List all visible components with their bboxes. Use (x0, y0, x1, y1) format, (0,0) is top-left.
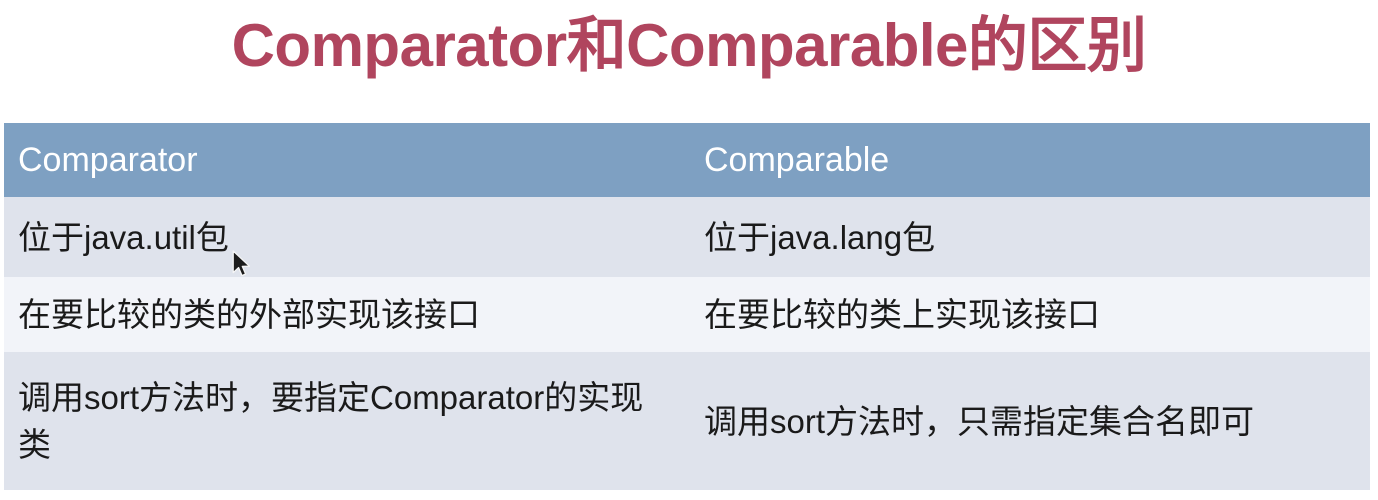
column-header-comparable: Comparable (690, 123, 1370, 197)
column-header-comparator: Comparator (4, 123, 690, 197)
cell-text: 位于java.util包 (18, 214, 676, 261)
slide-canvas: Comparator和Comparable的区别 Comparator Comp… (0, 0, 1378, 500)
cell-text: 在要比较的类的外部实现该接口 (18, 291, 676, 338)
cell-text: 调用sort方法时，要指定Comparator的实现类 (18, 374, 676, 468)
table-row: 调用sort方法时，要指定Comparator的实现类 调用sort方法时，只需… (4, 352, 1370, 490)
cell-comparator-location: 位于java.util包 (4, 197, 690, 277)
comparison-table: Comparator Comparable 位于java.util包 位于jav… (4, 123, 1370, 490)
cell-comparable-implementation: 在要比较的类上实现该接口 (690, 277, 1370, 352)
cell-comparable-sort-usage: 调用sort方法时，只需指定集合名即可 (690, 352, 1370, 490)
cell-comparable-location: 位于java.lang包 (690, 197, 1370, 277)
page-title: Comparator和Comparable的区别 (0, 2, 1378, 94)
cell-comparator-sort-usage: 调用sort方法时，要指定Comparator的实现类 (4, 352, 690, 490)
cell-comparator-implementation: 在要比较的类的外部实现该接口 (4, 277, 690, 352)
table-row: 在要比较的类的外部实现该接口 在要比较的类上实现该接口 (4, 277, 1370, 352)
cell-text: 调用sort方法时，只需指定集合名即可 (704, 398, 1356, 445)
table-header-row: Comparator Comparable (4, 123, 1370, 197)
cell-text: 位于java.lang包 (704, 214, 1356, 261)
table-row: 位于java.util包 位于java.lang包 (4, 197, 1370, 277)
cell-text: 在要比较的类上实现该接口 (704, 291, 1356, 338)
